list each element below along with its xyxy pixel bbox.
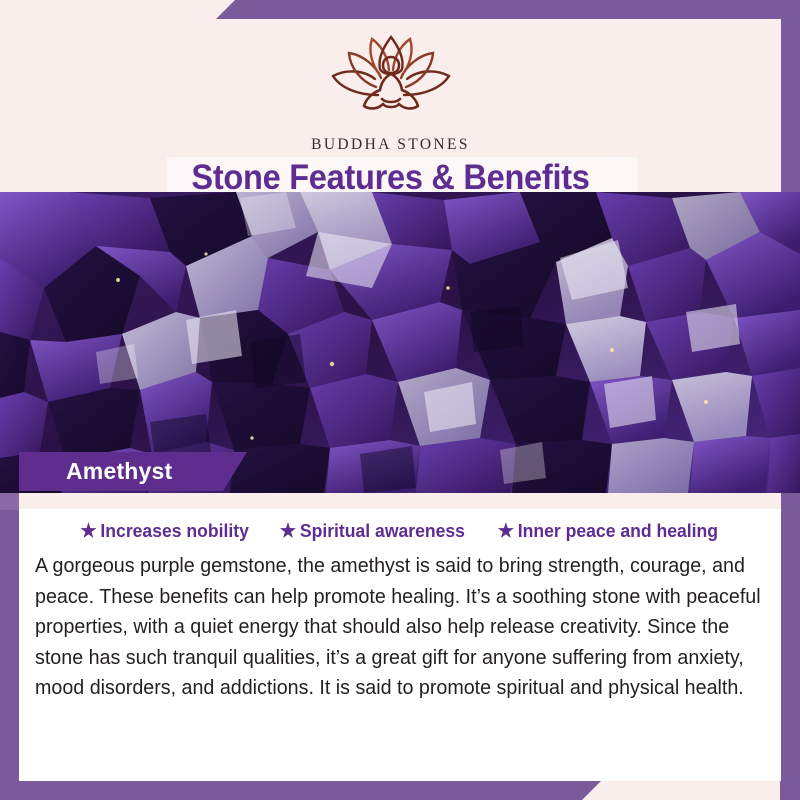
cream-divider [19,493,781,509]
benefit-label: Spiritual awareness [300,520,465,542]
stone-description: A gorgeous purple gemstone, the amethyst… [35,551,778,704]
benefit-item: ★ Inner peace and healing [498,520,718,542]
stone-content: ★ Increases nobility ★ Spiritual awarene… [19,509,781,781]
star-icon: ★ [80,522,96,541]
stone-name: Amethyst [66,458,172,485]
amethyst-photo [0,192,800,493]
frame-left-accent [0,490,19,510]
benefit-label: Increases nobility [100,520,248,542]
star-icon: ★ [498,522,514,541]
benefit-item: ★ Spiritual awareness [280,520,465,542]
frame-left-bar [0,505,19,800]
frame-bottom-bar [0,781,601,800]
benefits-list: ★ Increases nobility ★ Spiritual awarene… [19,509,781,542]
lotus-meditation-icon [0,29,781,134]
infographic-page: BUDDHA STONES Stone Features & Benefits [0,0,800,800]
star-icon: ★ [280,522,296,541]
header: BUDDHA STONES Stone Features & Benefits [0,19,781,192]
benefit-label: Inner peace and healing [518,520,718,542]
stone-name-ribbon: Amethyst [19,452,247,491]
benefit-item: ★ Increases nobility [80,520,248,542]
brand-name: BUDDHA STONES [0,136,781,154]
frame-top-bar [216,0,800,19]
brand-logo: BUDDHA STONES [0,29,781,154]
